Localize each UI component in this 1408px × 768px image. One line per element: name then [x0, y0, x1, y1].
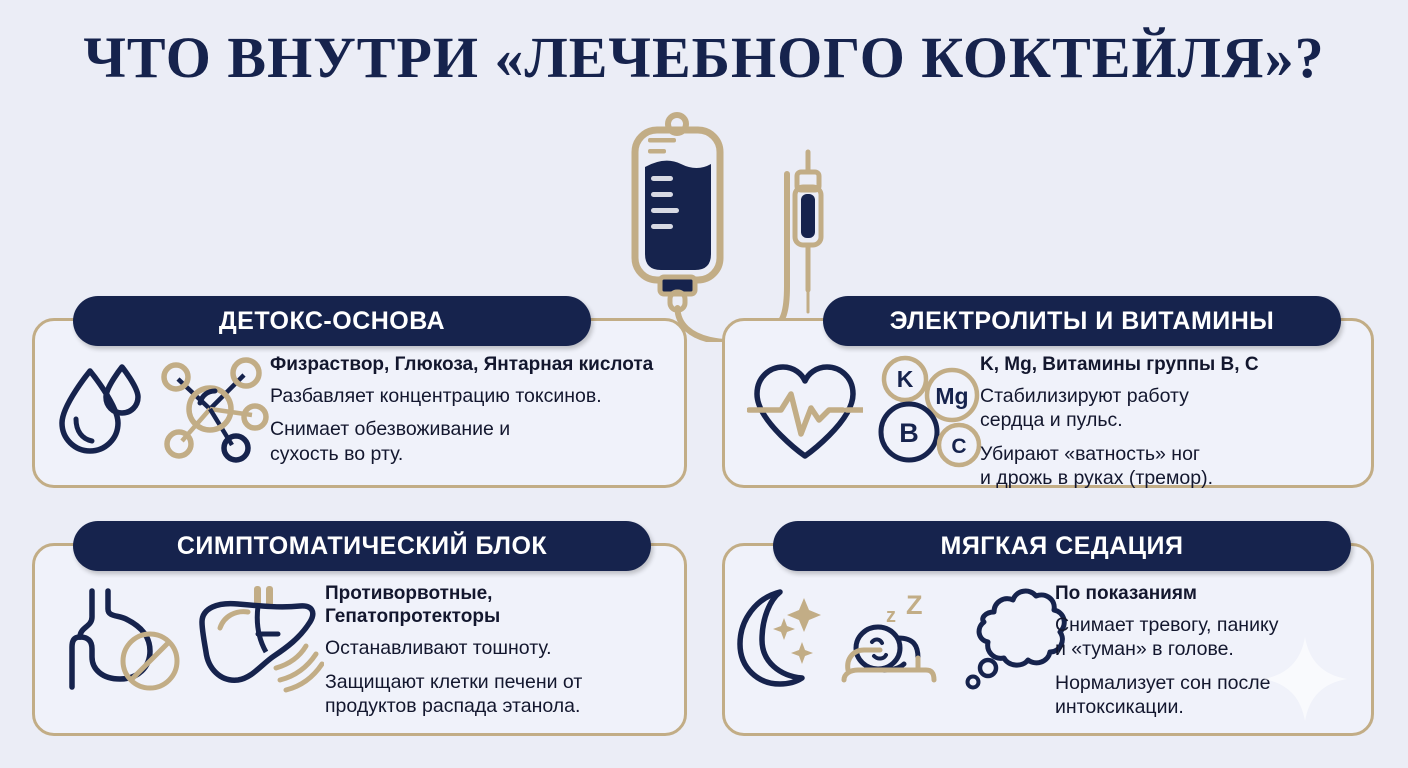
card-line: Стабилизируют работу сердца и пульс.: [980, 384, 1371, 432]
card-mild-sedation: МЯГКАЯ СЕДАЦИЯ Z z: [722, 543, 1374, 736]
card-line: Нормализует сон после интоксикации.: [1055, 671, 1371, 719]
vitamin-circles-icon: K Mg B C: [871, 353, 989, 469]
card-line: Защищают клетки печени от продуктов расп…: [325, 670, 684, 718]
card-line: Убирают «ватность» ног и дрожь в руках (…: [980, 442, 1371, 490]
card-line: Разбавляет концентрацию токсинов.: [270, 384, 684, 408]
card-bold-text: Противорвотные, Гепатопротекторы: [325, 582, 684, 628]
vitamin-label-k: K: [896, 366, 913, 392]
page-title: ЧТО ВНУТРИ «ЛЕЧЕБНОГО КОКТЕЙЛЯ»?: [0, 24, 1408, 91]
zzz-label: z: [886, 605, 896, 627]
liver-icon: [194, 582, 324, 694]
card-header-detox-base: ДЕТОКС-ОСНОВА: [73, 296, 591, 346]
card-icons-detox-base: [35, 353, 270, 465]
card-icons-symptomatic-block: [35, 582, 325, 694]
card-text-symptomatic-block: Противорвотные, Гепатопротекторы Останав…: [325, 582, 684, 718]
card-symptomatic-block: СИМПТОМАТИЧЕСКИЙ БЛОК: [32, 543, 687, 736]
card-header-mild-sedation: МЯГКАЯ СЕДАЦИЯ: [773, 521, 1351, 571]
card-line: Снимает тревогу, панику и «туман» в голо…: [1055, 613, 1371, 661]
card-icons-electrolytes-vitamins: K Mg B C: [725, 353, 980, 469]
molecule-icon: [152, 353, 272, 465]
vitamin-label-mg: Mg: [935, 383, 968, 409]
card-icons-mild-sedation: Z z: [725, 582, 1055, 690]
card-detox-base: ДЕТОКС-ОСНОВА: [32, 318, 687, 488]
heartbeat-icon: [747, 358, 863, 464]
card-bold-text: Физраствор, Глюкоза, Янтарная кислота: [270, 353, 684, 376]
stomach-no-nausea-icon: [66, 583, 186, 693]
water-drop-icon: [52, 357, 144, 461]
card-electrolytes-vitamins: ЭЛЕКТРОЛИТЫ И ВИТАМИНЫ K Mg B: [722, 318, 1374, 488]
card-text-detox-base: Физраствор, Глюкоза, Янтарная кислота Ра…: [270, 353, 684, 466]
zzz-label: Z: [906, 590, 923, 620]
card-line: Снимает обезвоживание и сухость во рту.: [270, 417, 684, 465]
iv-drip-bag-icon: [615, 112, 855, 342]
sleeping-person-icon: Z z: [834, 582, 952, 690]
card-text-mild-sedation: По показаниям Снимает тревогу, панику и …: [1055, 582, 1371, 719]
vitamin-label-c: C: [951, 435, 966, 458]
card-line: Останавливают тошноту.: [325, 636, 684, 660]
crescent-moon-stars-icon: [730, 582, 826, 690]
card-header-electrolytes-vitamins: ЭЛЕКТРОЛИТЫ И ВИТАМИНЫ: [823, 296, 1341, 346]
card-text-electrolytes-vitamins: K, Mg, Витамины группы B, C Стабилизирую…: [980, 353, 1371, 490]
card-header-symptomatic-block: СИМПТОМАТИЧЕСКИЙ БЛОК: [73, 521, 651, 571]
card-bold-text: K, Mg, Витамины группы B, C: [980, 353, 1371, 376]
card-bold-text: По показаниям: [1055, 582, 1371, 605]
vitamin-label-b: B: [899, 418, 919, 448]
